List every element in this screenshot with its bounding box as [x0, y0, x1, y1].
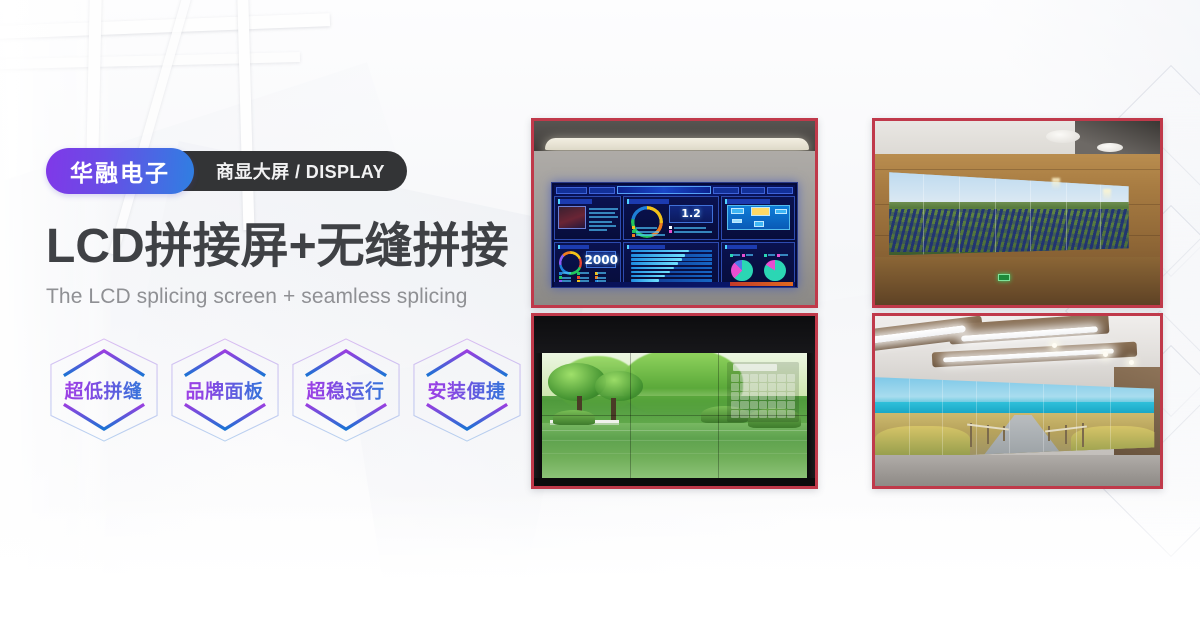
- calendar-overlay: [727, 362, 798, 422]
- brand-pill: 华融电子: [46, 148, 194, 194]
- feature-badge: 超低拼缝: [44, 334, 163, 446]
- willow-lake-screen: [542, 353, 806, 477]
- photo-frame-beach-boardwalk-video-wall[interactable]: [872, 313, 1163, 489]
- category-label: 商显大屏 / DISPLAY: [216, 158, 385, 184]
- feature-badge: 品牌面板: [165, 334, 284, 446]
- photo-willow-lake-video-wall: [534, 316, 815, 486]
- beach-boardwalk-screen: [875, 377, 1154, 459]
- feature-badge: 超稳运行: [286, 334, 405, 446]
- photo-beach-boardwalk-video-wall: [875, 316, 1160, 486]
- feature-badge: 安装便捷: [407, 334, 526, 446]
- photo-dashboard-video-wall: 1.2: [534, 121, 815, 305]
- photo-frame-solar-farm-video-wall[interactable]: [872, 118, 1163, 308]
- dashboard-big-number: 2000: [585, 253, 618, 267]
- promo-banner: 商显大屏 / DISPLAY 华融电子 LCD拼接屏+无缝拼接 The LCD …: [0, 0, 1200, 640]
- feature-badge-list: 超低拼缝 品牌面板 超稳运行: [44, 334, 526, 446]
- feature-label: 品牌面板: [165, 377, 284, 404]
- feature-label: 安装便捷: [407, 377, 526, 404]
- page-title: LCD拼接屏+无缝拼接: [46, 222, 516, 273]
- hero-copy: 商显大屏 / DISPLAY 华融电子 LCD拼接屏+无缝拼接 The LCD …: [46, 148, 516, 309]
- photo-frame-willow-lake-video-wall[interactable]: [531, 313, 818, 489]
- brand-label: 华融电子: [70, 154, 170, 188]
- background-bottom-wash: [0, 490, 1200, 640]
- dashboard-big-number: 1.2: [681, 207, 701, 220]
- dashboard-screen: 1.2: [551, 182, 798, 289]
- feature-label: 超稳运行: [286, 377, 405, 404]
- page-subtitle: The LCD splicing screen + seamless splic…: [46, 285, 516, 309]
- feature-label: 超低拼缝: [44, 377, 163, 404]
- photo-solar-farm-video-wall: [875, 121, 1160, 305]
- brand-pill-group: 商显大屏 / DISPLAY 华融电子: [46, 148, 516, 194]
- photo-frame-dashboard-video-wall[interactable]: 1.2: [531, 118, 818, 308]
- category-pill: 商显大屏 / DISPLAY: [164, 151, 407, 191]
